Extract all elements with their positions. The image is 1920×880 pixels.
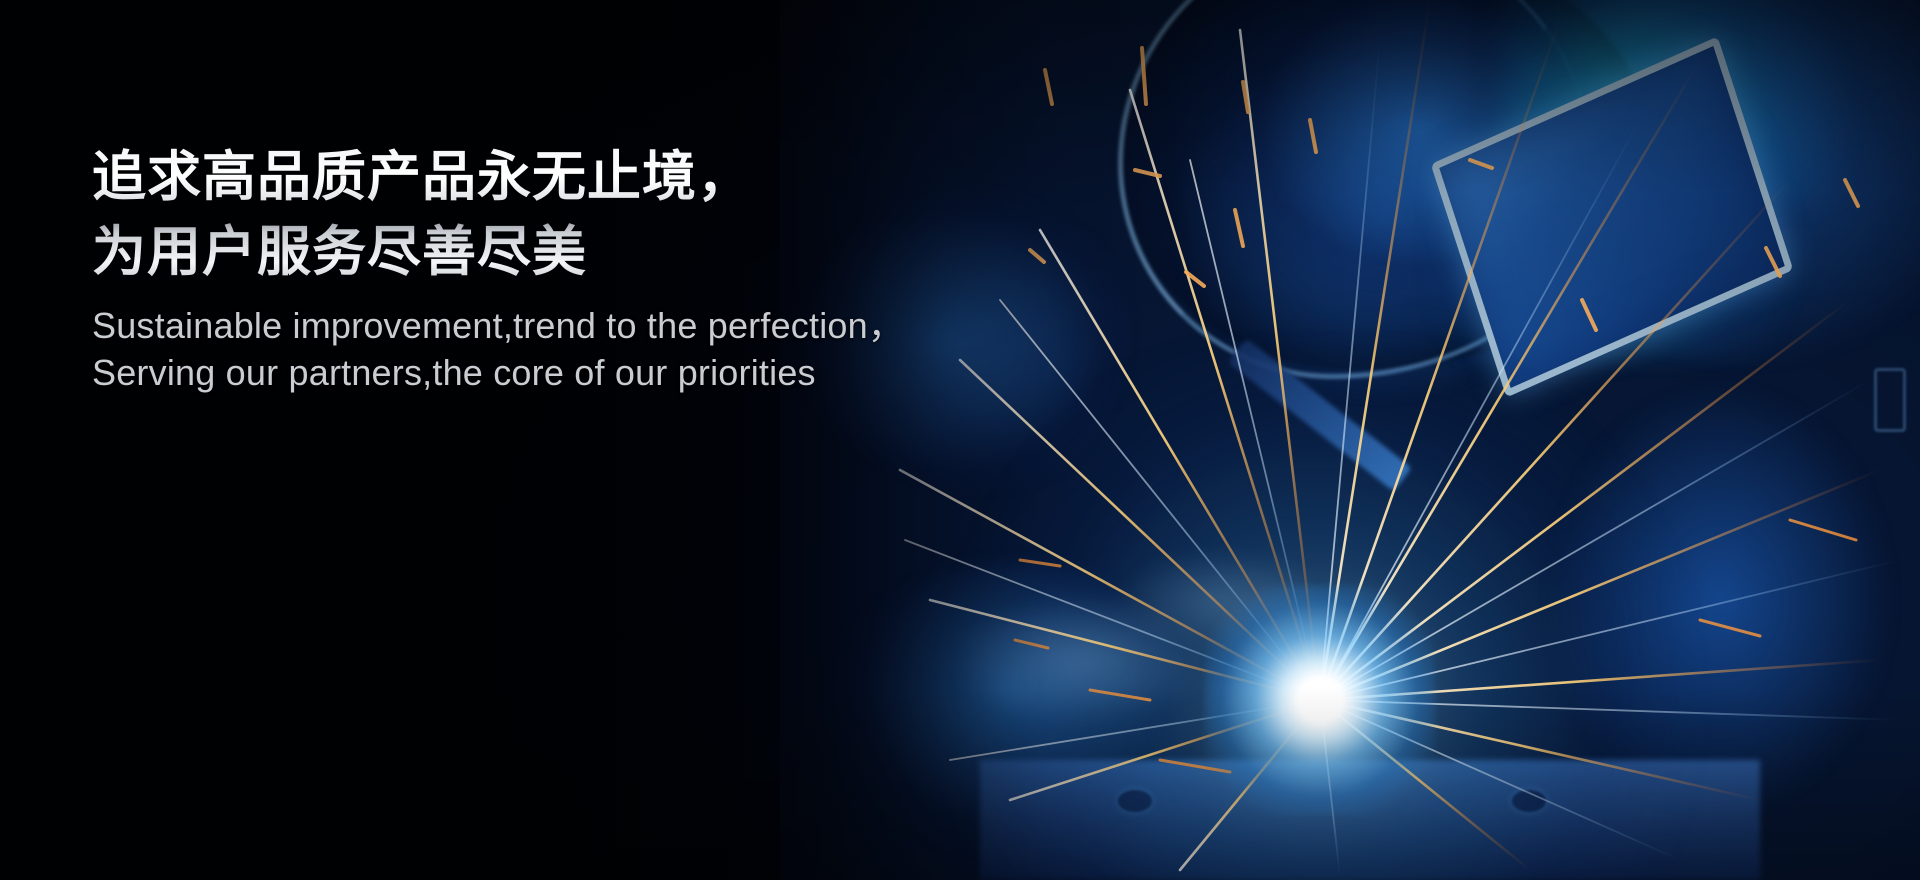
hero-banner: 追求高品质产品永无止境， 为用户服务尽善尽美 Sustainable impro… [0, 0, 1920, 880]
headline-line-2: 为用户服务尽善尽美 [92, 215, 1112, 290]
page-title: 追求高品质产品永无止境， 为用户服务尽善尽美 [92, 140, 1112, 289]
subheadline-line-2: Serving our partners,the core of our pri… [92, 350, 1112, 397]
headline-line-1: 追求高品质产品永无止境， [92, 140, 1112, 215]
subheadline: Sustainable improvement,trend to the per… [92, 303, 1112, 397]
hero-copy: 追求高品质产品永无止境， 为用户服务尽善尽美 Sustainable impro… [92, 140, 1112, 397]
subheadline-line-1: Sustainable improvement,trend to the per… [92, 303, 1112, 350]
vignette-overlay [0, 0, 1920, 880]
